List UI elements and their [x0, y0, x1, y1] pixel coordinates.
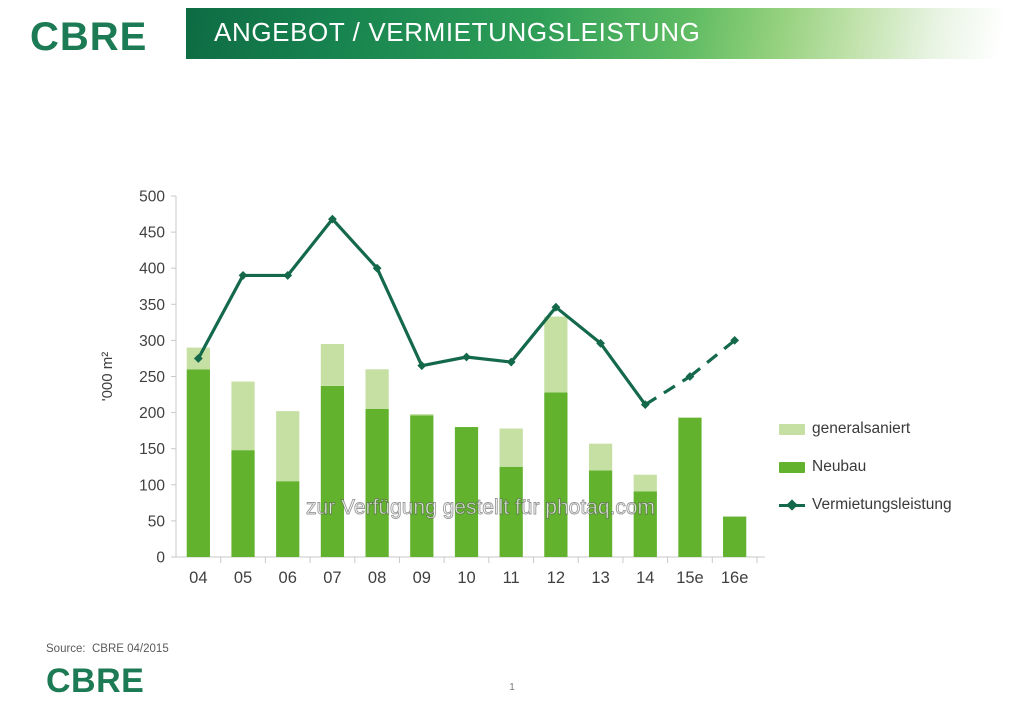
chart-legend: generalsaniertNeubauVermietungsleistung [779, 410, 1019, 524]
chart-svg: 050100150200250300350400450500 040506070… [0, 64, 1024, 664]
y-tick-label: 150 [139, 441, 165, 458]
y-tick-label: 350 [139, 297, 165, 314]
x-tick-label: 14 [636, 569, 654, 587]
bar-segment [410, 415, 433, 557]
line-segment [377, 268, 422, 365]
bar-segment [276, 411, 299, 481]
bar-segment [723, 517, 746, 557]
bar-segment [231, 382, 254, 451]
bar-segment [544, 317, 567, 393]
y-tick-label: 0 [156, 550, 165, 567]
legend-color-swatch [779, 424, 805, 435]
bar-segment [231, 450, 254, 557]
line-segment [645, 377, 690, 405]
bar-segment [365, 409, 388, 557]
legend-line-icon [779, 499, 805, 511]
x-tick-label: 12 [547, 569, 565, 587]
legend-item-label: generalsaniert [812, 420, 910, 438]
cbre-logo-header: CBRE [30, 17, 147, 57]
x-tick-label: 04 [189, 569, 207, 587]
line-segment [332, 219, 377, 268]
legend-item-label: Neubau [812, 458, 866, 476]
source-value: CBRE 04/2015 [92, 643, 169, 655]
y-tick-label: 250 [139, 369, 165, 386]
x-tick-label: 16e [721, 569, 749, 587]
legend-item[interactable]: Neubau [779, 448, 1019, 486]
line-segment [288, 219, 333, 275]
y-tick-label: 200 [139, 405, 165, 422]
bar-segment [500, 467, 523, 557]
legend-item-label: Vermietungsleistung [812, 496, 952, 514]
y-tick-label: 400 [139, 261, 165, 278]
page-number: 1 [0, 682, 1024, 693]
line-series-group [194, 215, 739, 409]
bar-segment [321, 386, 344, 557]
bar-segment [276, 481, 299, 557]
legend-item[interactable]: generalsaniert [779, 410, 1019, 448]
page-header: CBRE ANGEBOT / VERMIETUNGSLEISTUNG [0, 0, 1024, 64]
bar-segment [589, 470, 612, 557]
line-segment [467, 357, 512, 362]
bar-segment [678, 418, 701, 557]
line-segment [198, 275, 243, 358]
bar-segment [187, 369, 210, 557]
legend-item[interactable]: Vermietungsleistung [779, 486, 1019, 524]
x-tick-label: 06 [279, 569, 297, 587]
bar-segment [544, 392, 567, 557]
line-segment [601, 343, 646, 404]
bar-segment [500, 428, 523, 466]
y-tick-label: 50 [148, 513, 166, 530]
x-tick-label: 05 [234, 569, 252, 587]
legend-color-swatch [779, 462, 805, 473]
y-axis-title: '000 m² [99, 352, 116, 402]
y-tick-label: 450 [139, 225, 165, 242]
y-tick-label: 500 [139, 189, 165, 206]
bar-segment [410, 414, 433, 415]
chart-container: 050100150200250300350400450500 040506070… [0, 64, 1024, 664]
x-tick-label: 15e [676, 569, 704, 587]
line-marker [462, 353, 471, 362]
line-segment [422, 357, 467, 366]
bar-segment [589, 444, 612, 471]
x-tick-label: 08 [368, 569, 386, 587]
y-tick-label: 300 [139, 333, 165, 350]
x-tick-label: 07 [323, 569, 341, 587]
cbre-logo-footer: CBRE [46, 661, 144, 701]
x-tick-label: 11 [503, 569, 520, 587]
source-label: Source: [46, 643, 92, 655]
bar-segment [455, 427, 478, 557]
line-segment [690, 340, 735, 376]
source-note: Source:CBRE 04/2015 [46, 643, 169, 655]
bar-segment [365, 369, 388, 409]
bar-segment [634, 491, 657, 557]
y-axis: 050100150200250300350400450500 [139, 189, 176, 567]
bar-segment [321, 344, 344, 386]
x-tick-label: 10 [457, 569, 475, 587]
x-axis: 040506070809101112131415e16e [176, 557, 765, 587]
x-tick-label: 09 [413, 569, 431, 587]
x-tick-label: 13 [591, 569, 609, 587]
y-tick-label: 100 [139, 477, 165, 494]
page-title: ANGEBOT / VERMIETUNGSLEISTUNG [214, 17, 700, 48]
title-gradient-band: ANGEBOT / VERMIETUNGSLEISTUNG [186, 8, 1024, 59]
bar-segment [634, 475, 657, 492]
